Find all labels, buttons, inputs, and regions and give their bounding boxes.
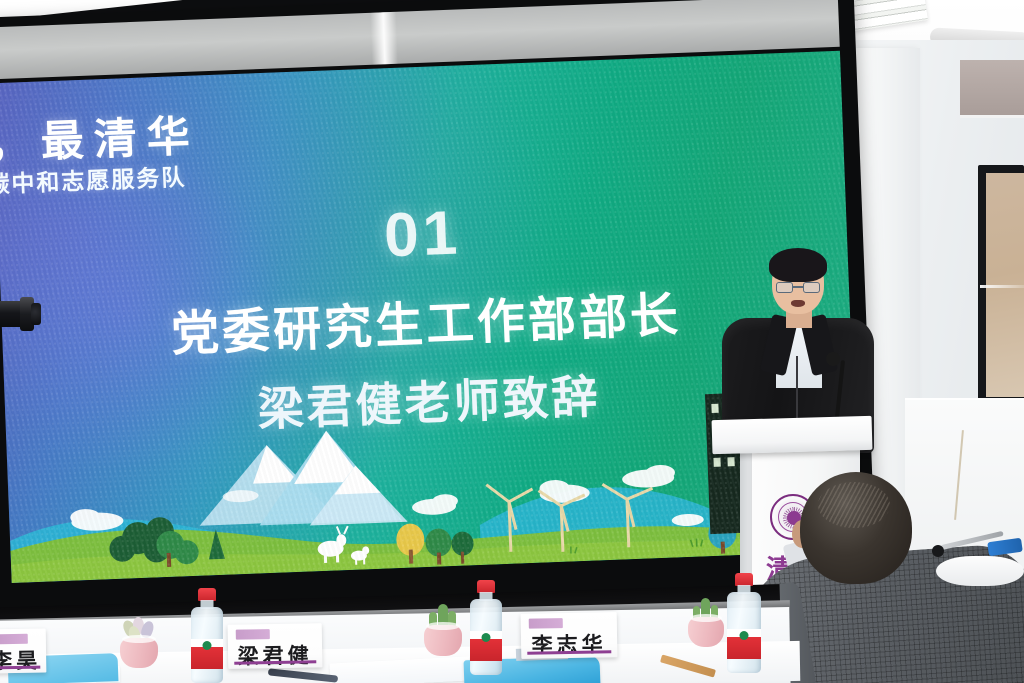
- placard-name: 梁君健: [228, 639, 323, 671]
- name-placard: 李志华: [521, 612, 618, 659]
- plant-pot: [424, 625, 462, 656]
- placard-name: 李昊: [0, 644, 46, 675]
- potted-cactus: [424, 606, 462, 656]
- plant-pot: [120, 638, 158, 668]
- side-desk-knob: [932, 545, 944, 557]
- bottle-label: [191, 639, 223, 669]
- water-bottle: [470, 580, 502, 675]
- glasses-bridge: [793, 286, 803, 288]
- window-blind: [960, 60, 1024, 118]
- water-bottle: [727, 573, 761, 673]
- screen-display-surface: 动，最清华 究生碳中和志愿服务队 01 党委研究生工作部部长 梁君健老师致辞: [0, 51, 859, 583]
- speaker-hair: [769, 248, 827, 282]
- name-placard: 梁君健: [228, 623, 323, 669]
- plant-pot: [688, 617, 724, 647]
- placard-logo-icon: [0, 634, 28, 645]
- placard-logo-icon: [529, 618, 563, 629]
- microphone-icon: [826, 352, 840, 366]
- window-glare: [980, 285, 1024, 288]
- potted-cactus: [688, 599, 724, 647]
- bottle-label: [727, 629, 761, 659]
- placard-logo-icon: [236, 629, 270, 640]
- side-desk-tray: [936, 556, 1024, 586]
- window-frame: [978, 165, 1024, 405]
- bottle-label: [470, 631, 502, 661]
- attendee-head: [800, 472, 912, 584]
- placard-name: 李志华: [521, 628, 618, 660]
- glasses-lens-left: [776, 282, 793, 293]
- glasses-lens-right: [803, 282, 820, 293]
- name-placard: 李昊: [0, 628, 46, 673]
- water-bottle: [191, 588, 223, 683]
- speaker-mouth: [791, 300, 805, 307]
- eyeglasses-icon: [776, 282, 820, 293]
- conference-room-scene: 动，最清华 究生碳中和志愿服务队 01 党委研究生工作部部长 梁君健老师致辞 清…: [0, 0, 1024, 683]
- lens-front-element: [31, 303, 41, 325]
- podium-top-surface: [712, 416, 873, 454]
- camera-lens-icon: [0, 297, 48, 331]
- potted-succulent: [120, 620, 158, 668]
